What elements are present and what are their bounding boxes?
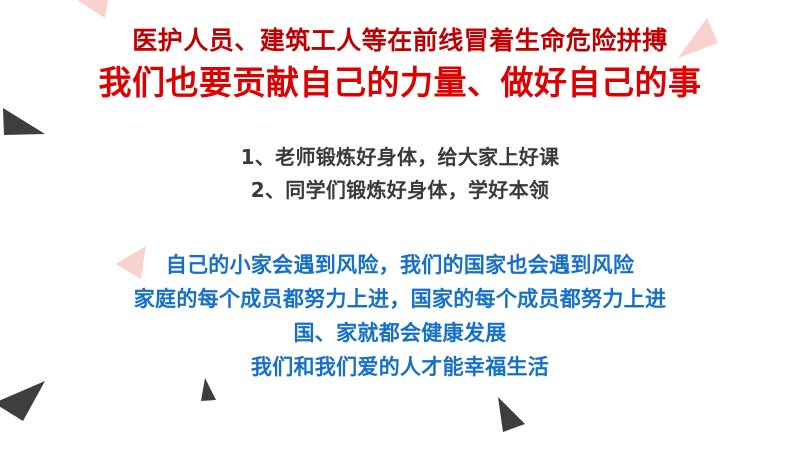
message-line: 自己的小家会遇到风险，我们的国家也会遇到风险 (0, 248, 800, 282)
message-line: 国、家就都会健康发展 (0, 316, 800, 350)
pink-triangle-top-icon (74, 0, 114, 20)
message-line: 家庭的每个成员都努力上进，国家的每个成员都努力上进 (0, 282, 800, 316)
headline-block: 医护人员、建筑工人等在前线冒着生命危险拼搏 我们也要贡献自己的力量、做好自己的事 (0, 22, 800, 106)
message-line: 我们和我们爱的人才能幸福生活 (0, 350, 800, 384)
numbered-list: 1、老师锻炼好身体，给大家上好课 2、同学们锻炼好身体，学好本领 (0, 141, 800, 207)
slide-canvas: 医护人员、建筑工人等在前线冒着生命危险拼搏 我们也要贡献自己的力量、做好自己的事… (0, 0, 800, 450)
dark-triangle-left-icon (3, 107, 51, 139)
dark-triangle-bottom-center-icon (492, 394, 530, 438)
list-item: 2、同学们锻炼好身体，学好本领 (0, 174, 800, 207)
message-block: 自己的小家会遇到风险，我们的国家也会遇到风险 家庭的每个成员都努力上进，国家的每… (0, 248, 800, 384)
list-item: 1、老师锻炼好身体，给大家上好课 (0, 141, 800, 174)
headline-line-2: 我们也要贡献自己的力量、做好自己的事 (0, 60, 800, 106)
headline-line-1: 医护人员、建筑工人等在前线冒着生命危险拼搏 (0, 22, 800, 60)
